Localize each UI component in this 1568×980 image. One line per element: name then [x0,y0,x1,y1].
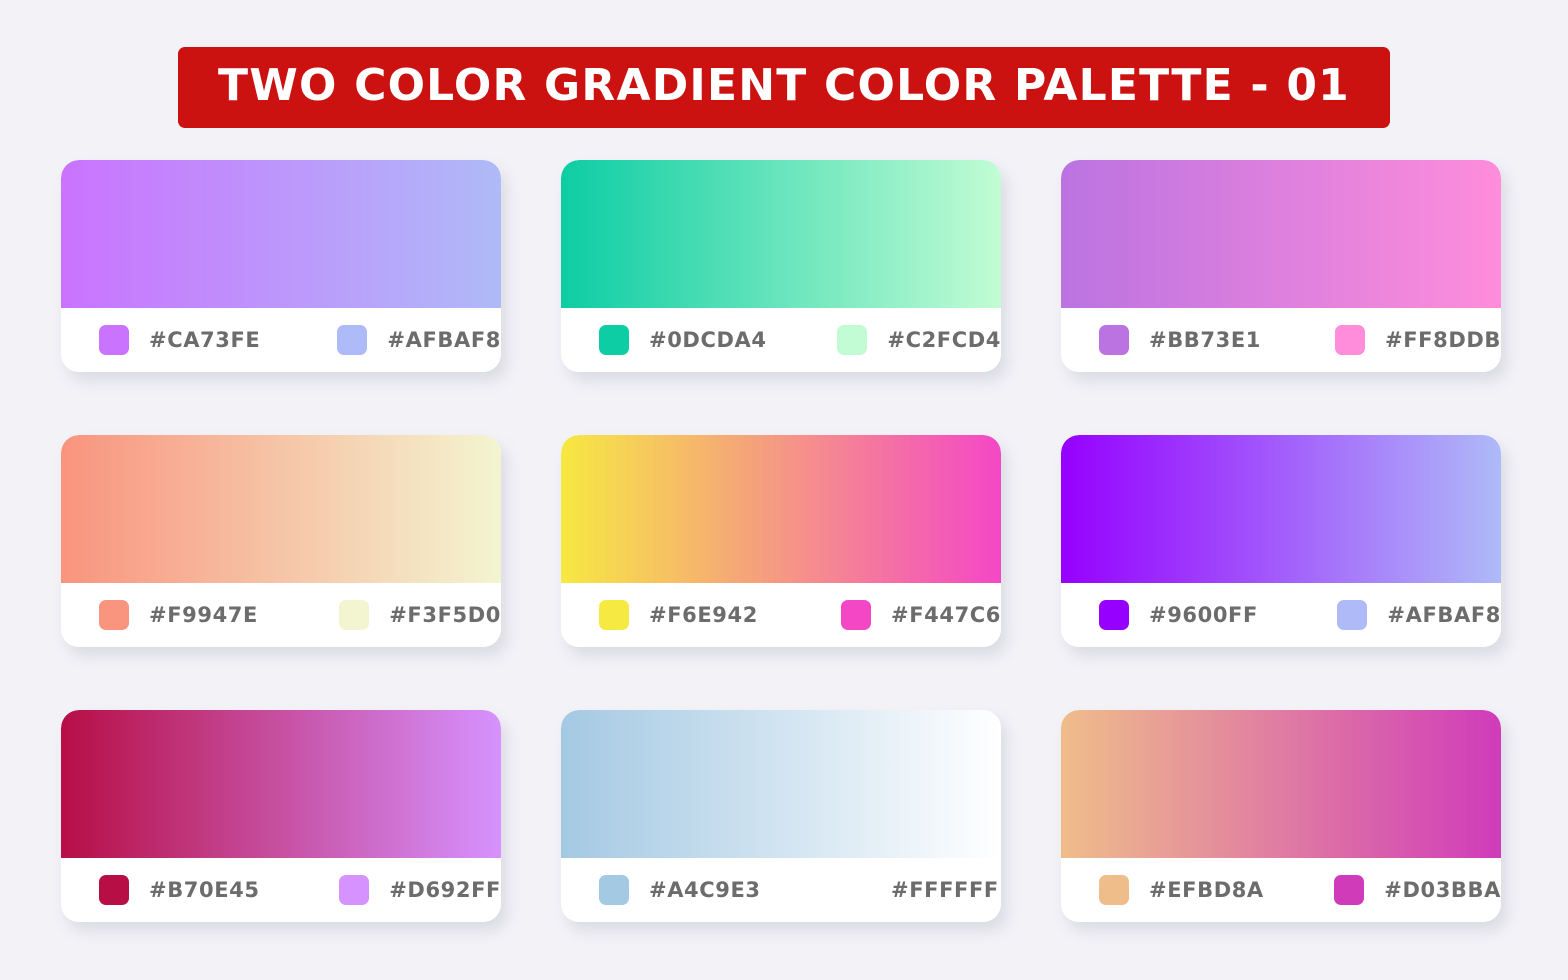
start-color-entry[interactable]: #BB73E1 [1099,325,1335,355]
color-label-strip: #A4C9E3#FFFFFF [561,858,1001,922]
end-hex-label: #FF8DDB [1385,328,1501,352]
end-hex-label: #C2FCD4 [887,328,1001,352]
start-color-chip-icon [599,325,629,355]
palette-grid: #CA73FE#AFBAF8#0DCDA4#C2FCD4#BB73E1#FF8D… [61,160,1501,930]
end-color-chip-icon [339,600,369,630]
color-label-strip: #F9947E#F3F5D0 [61,583,501,647]
end-color-entry[interactable]: #FF8DDB [1335,325,1501,355]
start-color-chip-icon [1099,600,1129,630]
start-hex-label: #A4C9E3 [649,878,761,902]
color-label-strip: #EFBD8A#D03BBA [1061,858,1501,922]
end-color-entry[interactable]: #F3F5D0 [339,600,501,630]
start-hex-label: #B70E45 [149,878,260,902]
start-color-entry[interactable]: #F9947E [99,600,339,630]
end-hex-label: #D03BBA [1384,878,1501,902]
gradient-preview [561,435,1001,583]
start-hex-label: #F9947E [149,603,258,627]
palette-card[interactable]: #CA73FE#AFBAF8 [61,160,501,372]
end-color-entry[interactable]: #AFBAF8 [1337,600,1501,630]
start-hex-label: #9600FF [1149,603,1258,627]
gradient-preview [561,160,1001,308]
end-color-chip-icon [339,875,369,905]
start-color-chip-icon [1099,325,1129,355]
start-color-entry[interactable]: #EFBD8A [1099,875,1334,905]
end-hex-label: #AFBAF8 [387,328,501,352]
end-hex-label: #FFFFFF [891,878,999,902]
end-hex-label: #F3F5D0 [389,603,501,627]
end-color-chip-icon [337,325,367,355]
start-color-entry[interactable]: #9600FF [1099,600,1337,630]
end-color-chip-icon [1334,875,1364,905]
start-color-chip-icon [99,600,129,630]
start-hex-label: #F6E942 [649,603,758,627]
palette-card[interactable]: #A4C9E3#FFFFFF [561,710,1001,922]
end-hex-label: #AFBAF8 [1387,603,1501,627]
palette-card[interactable]: #0DCDA4#C2FCD4 [561,160,1001,372]
color-label-strip: #BB73E1#FF8DDB [1061,308,1501,372]
palette-card[interactable]: #F6E942#F447C6 [561,435,1001,647]
start-color-entry[interactable]: #F6E942 [599,600,841,630]
end-color-entry[interactable]: #FFFFFF [841,875,999,905]
page-title: TWO COLOR GRADIENT COLOR PALETTE - 01 [218,64,1350,108]
end-color-entry[interactable]: #F447C6 [841,600,1001,630]
end-color-entry[interactable]: #D03BBA [1334,875,1501,905]
start-hex-label: #0DCDA4 [649,328,767,352]
color-label-strip: #F6E942#F447C6 [561,583,1001,647]
gradient-preview [1061,710,1501,858]
palette-card[interactable]: #9600FF#AFBAF8 [1061,435,1501,647]
start-color-chip-icon [99,325,129,355]
gradient-preview [61,160,501,308]
start-color-entry[interactable]: #A4C9E3 [599,875,841,905]
gradient-preview [61,435,501,583]
start-color-chip-icon [599,600,629,630]
start-color-entry[interactable]: #CA73FE [99,325,337,355]
gradient-preview [1061,435,1501,583]
end-color-entry[interactable]: #D692FF [339,875,501,905]
start-hex-label: #CA73FE [149,328,260,352]
color-label-strip: #B70E45#D692FF [61,858,501,922]
start-color-chip-icon [1099,875,1129,905]
start-color-chip-icon [599,875,629,905]
gradient-preview [61,710,501,858]
end-hex-label: #F447C6 [891,603,1001,627]
end-color-entry[interactable]: #AFBAF8 [337,325,501,355]
start-color-entry[interactable]: #0DCDA4 [599,325,837,355]
end-color-chip-icon [837,325,867,355]
end-hex-label: #D692FF [389,878,501,902]
start-color-entry[interactable]: #B70E45 [99,875,339,905]
end-color-chip-icon [841,600,871,630]
start-hex-label: #BB73E1 [1149,328,1261,352]
color-label-strip: #9600FF#AFBAF8 [1061,583,1501,647]
gradient-preview [1061,160,1501,308]
palette-card[interactable]: #EFBD8A#D03BBA [1061,710,1501,922]
palette-card[interactable]: #BB73E1#FF8DDB [1061,160,1501,372]
gradient-preview [561,710,1001,858]
end-color-chip-icon [1335,325,1365,355]
end-color-chip-icon [841,875,871,905]
start-hex-label: #EFBD8A [1149,878,1264,902]
title-banner-wrapper: TWO COLOR GRADIENT COLOR PALETTE - 01 [0,47,1568,128]
start-color-chip-icon [99,875,129,905]
color-label-strip: #CA73FE#AFBAF8 [61,308,501,372]
color-label-strip: #0DCDA4#C2FCD4 [561,308,1001,372]
palette-page: TWO COLOR GRADIENT COLOR PALETTE - 01 #C… [0,0,1568,980]
palette-card[interactable]: #F9947E#F3F5D0 [61,435,501,647]
end-color-chip-icon [1337,600,1367,630]
title-banner: TWO COLOR GRADIENT COLOR PALETTE - 01 [178,47,1390,128]
end-color-entry[interactable]: #C2FCD4 [837,325,1001,355]
palette-card[interactable]: #B70E45#D692FF [61,710,501,922]
